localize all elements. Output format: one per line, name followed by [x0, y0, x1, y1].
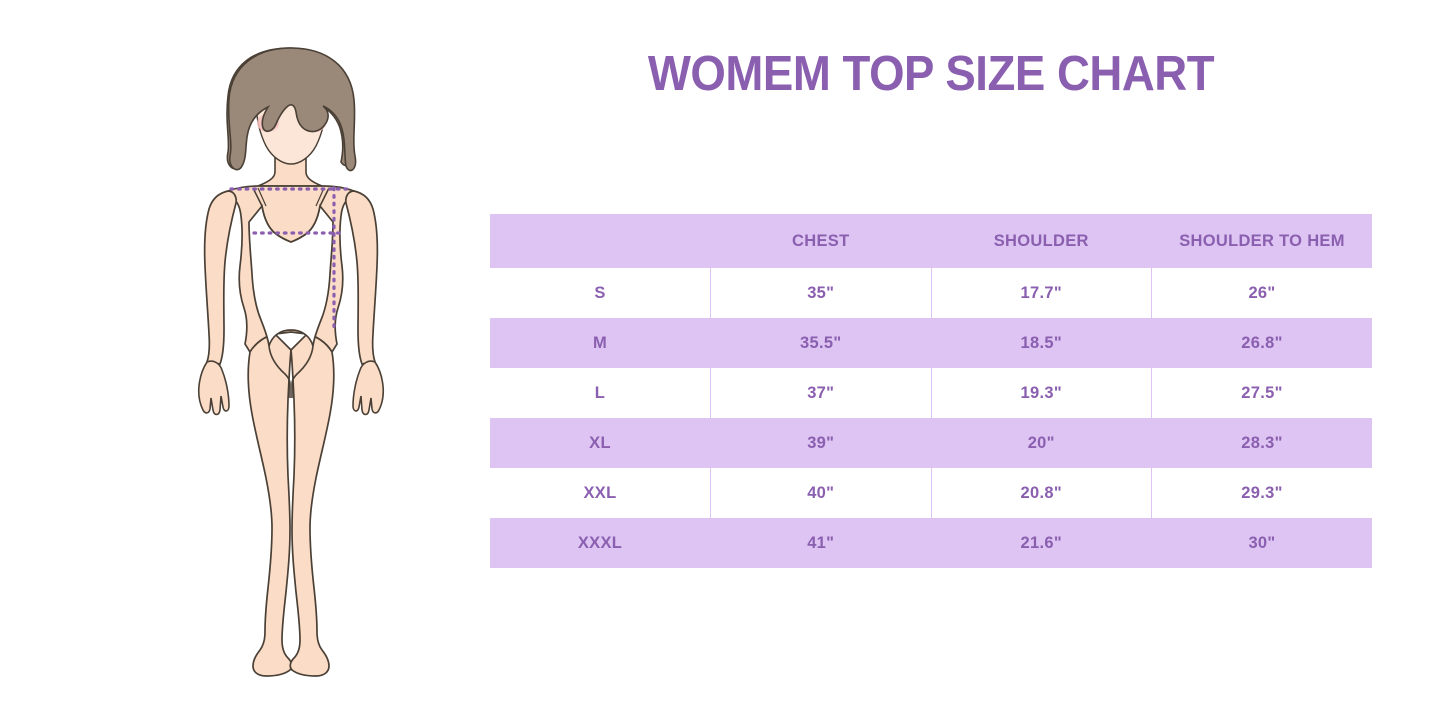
size-cell: M [490, 318, 711, 368]
size-cell: S [490, 268, 711, 318]
table-body: S35"17.7"26"M35.5"18.5"26.8"L37"19.3"27.… [490, 268, 1372, 568]
chest-cell: 41" [711, 518, 932, 568]
female-body-diagram [0, 0, 470, 723]
size-chart-page: WOMEM TOP SIZE CHART [0, 0, 1445, 723]
table-row: S35"17.7"26" [490, 268, 1372, 318]
shoulder-to-hem-cell: 28.3" [1152, 418, 1373, 468]
chest-cell: 40" [711, 468, 932, 518]
shoulder-cell: 17.7" [931, 268, 1152, 318]
shoulder-cell: 20" [931, 418, 1152, 468]
table-header: CHEST SHOULDER SHOULDER TO HEM [490, 214, 1372, 268]
shoulder-cell: 21.6" [931, 518, 1152, 568]
size-cell: XL [490, 418, 711, 468]
shoulder-cell: 18.5" [931, 318, 1152, 368]
arm-right [346, 191, 378, 364]
column-header-size [490, 214, 711, 268]
column-header-shoulder: SHOULDER [931, 214, 1152, 268]
table-row: XL39"20"28.3" [490, 418, 1372, 468]
table-row: XXXL41"21.6"30" [490, 518, 1372, 568]
column-header-chest: CHEST [711, 214, 932, 268]
table-row: M35.5"18.5"26.8" [490, 318, 1372, 368]
chest-cell: 39" [711, 418, 932, 468]
shoulder-cell: 20.8" [931, 468, 1152, 518]
chest-cell: 37" [711, 368, 932, 418]
shoulder-to-hem-cell: 30" [1152, 518, 1373, 568]
leg-left [248, 334, 291, 676]
size-cell: XXXL [490, 518, 711, 568]
table-header-row: CHEST SHOULDER SHOULDER TO HEM [490, 214, 1372, 268]
body-figure-illustration: SHOULDER CHEST SHOULDER TO HEM [0, 0, 470, 723]
shoulder-to-hem-cell: 29.3" [1152, 468, 1373, 518]
hand-left [199, 361, 229, 414]
column-header-shoulder-to-hem: SHOULDER TO HEM [1152, 214, 1373, 268]
chest-cell: 35.5" [711, 318, 932, 368]
shoulder-to-hem-cell: 26.8" [1152, 318, 1373, 368]
leg-right [290, 334, 333, 676]
shoulder-cell: 19.3" [931, 368, 1152, 418]
page-title: WOMEM TOP SIZE CHART [521, 46, 1341, 102]
shoulder-to-hem-cell: 26" [1152, 268, 1373, 318]
table-row: L37"19.3"27.5" [490, 368, 1372, 418]
chest-cell: 35" [711, 268, 932, 318]
size-cell: L [490, 368, 711, 418]
arm-left [205, 191, 237, 364]
hand-right [353, 361, 383, 414]
shoulder-to-hem-cell: 27.5" [1152, 368, 1373, 418]
size-cell: XXL [490, 468, 711, 518]
table-row: XXL40"20.8"29.3" [490, 468, 1372, 518]
size-chart-table: CHEST SHOULDER SHOULDER TO HEM S35"17.7"… [490, 214, 1372, 568]
